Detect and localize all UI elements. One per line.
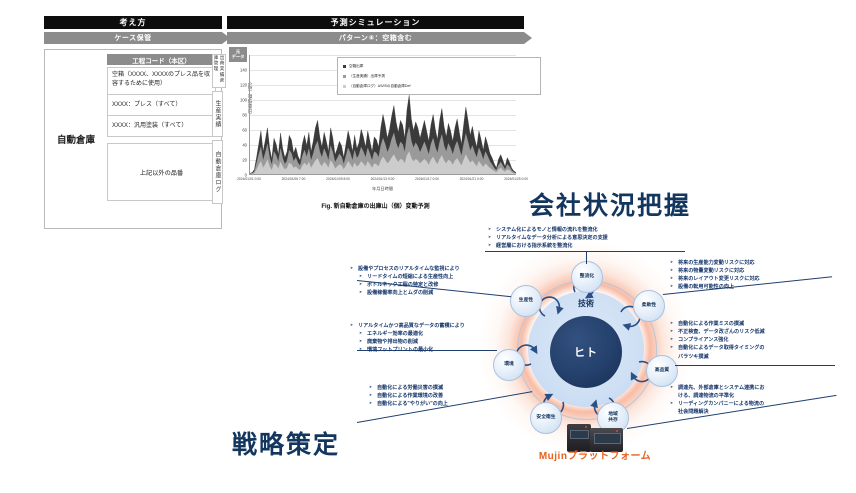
warehouse-row-label: 自動倉庫 [45, 50, 107, 228]
legend-label: （生産実績）出庫予測 [349, 74, 385, 79]
text-block-right-1: 将来の生産能力変動リスクに対応 将来の物量変動リスクに対応 将来のレイアウト変更… [670, 259, 760, 292]
chart-y-tick: 100 [240, 98, 249, 103]
bullet-item: 将来の物量変動リスクに対応 [670, 267, 760, 275]
legend-swatch-icon [343, 65, 346, 68]
bullet-item: コンプライアンス強化 [670, 336, 765, 344]
forecast-chart-card: 日量個数（個） 020406080100120140160 2024/01/01… [227, 49, 524, 227]
bullet-item: 経営層における指示系統を整流化 [488, 242, 608, 250]
chart-y-tick: 60 [242, 128, 249, 133]
legend-item: （生産実績）出庫予測 [343, 74, 535, 79]
technology-label: 技術 [528, 298, 644, 309]
chart-plot-area: 日量個数（個） 020406080100120140160 2024/01/01… [249, 55, 516, 175]
code-row: 空箱（XXXX、XXXXのプレス品を収容するために使用） [107, 67, 216, 95]
chart-x-tick: 2024/01/17 0:00 [415, 177, 439, 181]
text-block-top: システム化によるモノと情報の流れを整流化 リアルタイムなデータ分析による意思決定… [488, 226, 608, 250]
bullet-lead: リアルタイムかつ高品質なデータの蓄積により [350, 322, 465, 330]
text-block-left-2: リアルタイムかつ高品質なデータの蓄積により エネルギー効率の最適化 廃棄物や排出… [350, 322, 465, 355]
simulation-header: 予測シミュレーション [227, 16, 524, 29]
source-item-aswlog: 自動倉庫ログ [212, 140, 223, 204]
people-disc: ヒト [550, 316, 622, 388]
text-block-right-2: 自動化による作業ミスの撲滅 不正検査、データ改ざんのリスク低減 コンプライアンス… [670, 320, 765, 361]
chart-x-tick: 2024/01/21 0:00 [460, 177, 484, 181]
chart-y-tick: 120 [240, 83, 249, 88]
bullet-item: 将来のレイアウト変更リスクに対応 [670, 275, 760, 283]
node-label: 整流化 [580, 274, 594, 280]
warehouse-table: 自動倉庫 工程コード（本区） 空箱（XXXX、XXXXのプレス品を収容するために… [44, 49, 222, 229]
bullet-item: リーディングカンパニーによる物流の社会問題解決 [670, 400, 764, 416]
node-label: 環境 [504, 362, 514, 368]
node-kankyou: 環境 [493, 349, 525, 381]
bullet-item: システム化によるモノと情報の流れを整流化 [488, 226, 608, 234]
chart-x-tick: 2024/01/09 8:00 [326, 177, 350, 181]
bullet-item: 自動化による作業環境の改善 [369, 392, 448, 400]
node-anzen: 安全衛生 [530, 402, 562, 434]
bullet-list: 調達先、外部倉庫とシステム連携における、調達物流の平準化 リーディングカンパニー… [670, 384, 764, 417]
chart-y-tick: 20 [242, 158, 249, 163]
legend-item: （自動倉庫ログ）AS/ISの自動倉庫Def [343, 84, 535, 89]
figure-caption: Fig. 新自動倉庫の出庫山（個）変動予測 [227, 201, 524, 210]
source-item-production: 生産実績 [212, 91, 223, 137]
text-block-right-3: 調達先、外部倉庫とシステム連携における、調達物流の平準化 リーディングカンパニー… [670, 384, 764, 417]
chart-y-tick: 40 [242, 143, 249, 148]
section-title-strategy: 戦略策定 [232, 425, 340, 461]
bullet-item: 不正検査、データ改ざんのリスク低減 [670, 328, 765, 336]
company-status-section: 考え方 ケース保管 自動倉庫 工程コード（本区） 空箱（XXXX、XXXXのプレ… [44, 16, 524, 221]
node-label: 柔軟性 [642, 303, 656, 309]
bullet-item: 将来の生産能力変動リスクに対応 [670, 259, 760, 267]
bullet-list: システム化によるモノと情報の流れを整流化 リアルタイムなデータ分析による意思決定… [488, 226, 608, 250]
text-block-left-1: 設備やプロセスのリアルタイムな監視により リードタイムの短縮による生産性向上 ボ… [350, 265, 460, 298]
legend-item: 空箱出庫 [343, 64, 535, 69]
section-title-company-status: 会社状況把握 [529, 186, 691, 222]
simulation-panel: 予測シミュレーション パターン④：空箱含む 日量個数（個） 0204060801… [227, 16, 524, 221]
bullet-item: エネルギー効率の最適化 [359, 330, 465, 338]
source-data-tag: 元 データ [229, 47, 247, 62]
bullet-item: 環境フットプリントの最小化 [359, 346, 465, 354]
legend-swatch-icon [343, 75, 346, 78]
bullet-item: 自動化による作業ミスの撲滅 [670, 320, 765, 328]
bullet-item: ボトルネック工程の特定と改修 [359, 281, 460, 289]
code-header: 工程コード（本区） [107, 54, 216, 65]
chart-y-tick: 140 [240, 68, 249, 73]
connector-right-2 [675, 365, 835, 366]
platform-label: Mujinプラットフォーム [505, 447, 685, 462]
chart-x-tick: 2024/01/13 9:00 [371, 177, 395, 181]
slide-canvas: 考え方 ケース保管 自動倉庫 工程コード（本区） 空箱（XXXX、XXXXのプレ… [0, 0, 856, 493]
legend-swatch-icon [343, 85, 346, 88]
bullet-item: 設備稼働率向上とムダの削減 [359, 289, 460, 297]
code-list: 工程コード（本区） 空箱（XXXX、XXXXのプレス品を収容するために使用） X… [107, 50, 221, 228]
bullet-item: リアルタイムなデータ分析による意思決定の支援 [488, 234, 608, 242]
chart-x-tick: 2024/01/05 7:00 [282, 177, 306, 181]
bullet-item: 自動化による労働災害の撲滅 [369, 384, 448, 392]
code-row: XXXX：プレス（すべて） [107, 95, 216, 116]
connector-top-horizontal [485, 251, 685, 252]
source-tag-line2: データ [232, 55, 245, 60]
chart-x-tick: 2024/01/01 0:00 [237, 177, 261, 181]
other-items-box: 上記以外の品番 [107, 143, 216, 201]
legend-label: （自動倉庫ログ）AS/ISの自動倉庫Def [349, 84, 411, 89]
bullet-list: リアルタイムかつ高品質なデータの蓄積により [350, 322, 465, 330]
strategy-section: 技術 ヒト 整流化 柔軟性 高品質 地域共存 安全衛生 [345, 232, 845, 460]
bullet-list: 設備やプロセスのリアルタイムな監視により [350, 265, 460, 273]
chart-legend: 空箱出庫 （生産実績）出庫予測 （自動倉庫ログ）AS/ISの自動倉庫Def [337, 57, 541, 95]
code-row: XXXX：汎用塗装（すべて） [107, 116, 216, 137]
node-label: 高品質 [655, 368, 669, 374]
node-label: 安全衛生 [536, 415, 555, 421]
node-seiryuka: 整流化 [571, 261, 603, 293]
bullet-list: 将来の生産能力変動リスクに対応 将来の物量変動リスクに対応 将来のレイアウト変更… [670, 259, 760, 292]
bullet-sublist: エネルギー効率の最適化 廃棄物や排出物の削減 環境フットプリントの最小化 [359, 330, 465, 354]
bullet-item: 調達先、外部倉庫とシステム連携における、調達物流の平準化 [670, 384, 764, 400]
node-label: 生産性 [519, 298, 533, 304]
bullet-item: 設備の転用可能性の向上 [670, 283, 760, 291]
bullet-sublist: リードタイムの短縮による生産性向上 ボトルネック工程の特定と改修 設備稼働率向上… [359, 273, 460, 297]
bullet-lead: 設備やプロセスのリアルタイムな監視により [350, 265, 460, 273]
bullet-item: リードタイムの短縮による生産性向上 [359, 273, 460, 281]
thinking-header: 考え方 [44, 16, 222, 29]
people-label: ヒト [574, 344, 598, 360]
legend-label: 空箱出庫 [349, 64, 363, 69]
node-seisansei: 生産性 [510, 285, 542, 317]
chart-y-tick: 80 [242, 113, 249, 118]
bullet-list: 自動化による作業ミスの撲滅 不正検査、データ改ざんのリスク低減 コンプライアンス… [670, 320, 765, 361]
chart-x-tick: 2024/01/25 0:00 [504, 177, 528, 181]
bullet-item: 自動化による"やりがい"の向上 [369, 400, 448, 408]
node-jyunansei: 柔軟性 [633, 290, 665, 322]
chart-x-axis-label: 年月日時間 [372, 186, 393, 192]
bullet-item: 自動化によるデータ取得タイミングのバラツキ撲滅 [670, 344, 765, 360]
bullet-list: 自動化による労働災害の撲滅 自動化による作業環境の改善 自動化による"やりがい"… [369, 384, 448, 408]
case-storage-subheader: ケース保管 [44, 32, 222, 44]
source-item-warehouse-mgmt: 出荷実績倉庫管理 [212, 54, 226, 88]
connector-top-vertical [586, 251, 587, 264]
thinking-panel: 考え方 ケース保管 自動倉庫 工程コード（本区） 空箱（XXXX、XXXXのプレ… [44, 16, 222, 221]
pattern-subheader: パターン④：空箱含む [227, 32, 524, 44]
text-block-left-3: 自動化による労働災害の撲滅 自動化による作業環境の改善 自動化による"やりがい"… [369, 384, 448, 408]
bullet-item: 廃棄物や排出物の削減 [359, 338, 465, 346]
